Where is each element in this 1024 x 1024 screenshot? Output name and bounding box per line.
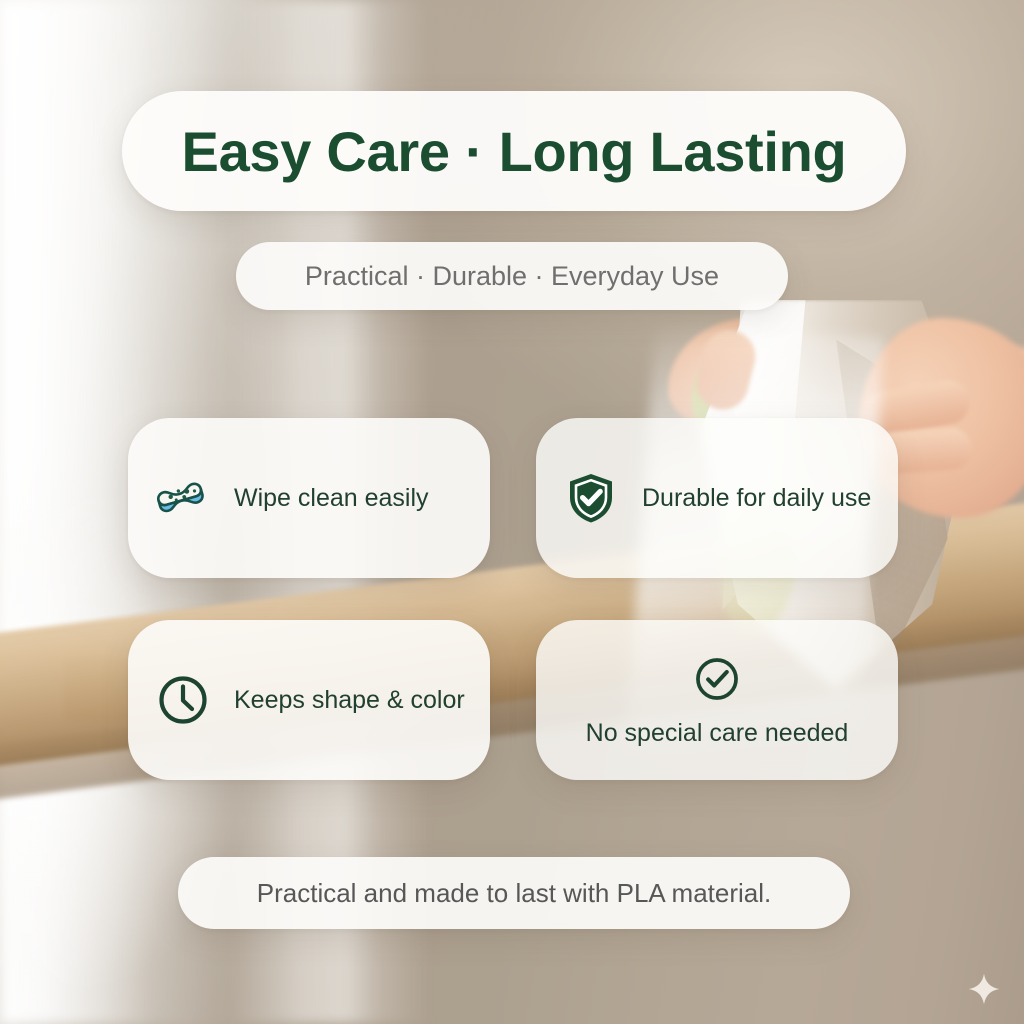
clock-icon [154, 671, 212, 729]
shield-check-icon [562, 469, 620, 527]
feature-card-wipe-clean[interactable]: Wipe clean easily [128, 418, 490, 578]
footer-pill: Practical and made to last with PLA mate… [178, 857, 850, 929]
title-pill: Easy Care · Long Lasting [122, 91, 906, 211]
feature-card-keeps-shape[interactable]: Keeps shape & color [128, 620, 490, 780]
page-title: Easy Care · Long Lasting [182, 119, 847, 184]
circle-check-icon [688, 650, 746, 708]
feature-label: Durable for daily use [642, 483, 871, 513]
sponge-icon [154, 469, 212, 527]
feature-card-durable[interactable]: Durable for daily use [536, 418, 898, 578]
poster-canvas: Easy Care · Long Lasting Practical · Dur… [0, 0, 1024, 1024]
footer-caption: Practical and made to last with PLA mate… [257, 878, 771, 909]
feature-label: Keeps shape & color [234, 685, 465, 715]
feature-label: Wipe clean easily [234, 483, 429, 513]
feature-label: No special care needed [586, 718, 849, 748]
subtitle-pill: Practical · Durable · Everyday Use [236, 242, 788, 310]
page-subtitle: Practical · Durable · Everyday Use [305, 261, 719, 292]
sparkle-icon [967, 972, 1001, 1006]
feature-card-no-special-care[interactable]: No special care needed [536, 620, 898, 780]
